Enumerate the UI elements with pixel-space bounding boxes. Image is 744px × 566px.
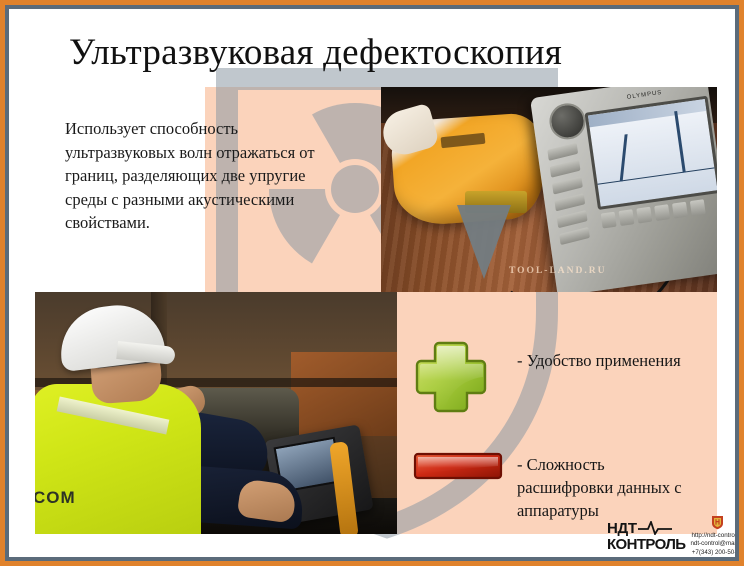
page-title: Ультразвуковая дефектоскопия xyxy=(69,31,709,75)
detector-screen xyxy=(585,96,717,210)
logo-wordmark: НДТ КОНТРОЛЬ xyxy=(607,521,685,552)
ascan-baseline xyxy=(597,167,714,185)
logo-kontrol-text: КОНТРОЛЬ xyxy=(607,537,685,552)
logo-email[interactable]: ndt-control@mail.ru xyxy=(690,540,735,549)
ascan-peak-2 xyxy=(674,111,686,173)
logo-website[interactable]: http://ndt-control.ru xyxy=(690,532,735,541)
workshop-panel xyxy=(291,352,397,436)
ultrasonic-probe-photo: OLYMPUS TOOL-LAND.RU xyxy=(381,87,717,292)
slide-frame: Ультразвуковая дефектоскопия Использует … xyxy=(0,0,744,566)
flaw-detector-device: OLYMPUS xyxy=(530,87,717,292)
detector-screen-topbar xyxy=(588,99,707,127)
detector-knob xyxy=(547,101,588,142)
logo-phone: +7(343) 200-50-22 xyxy=(690,549,735,557)
advantage-label: - Удобство применения xyxy=(517,349,732,372)
plus-icon xyxy=(413,339,489,415)
slide-canvas: Ультразвуковая дефектоскопия Использует … xyxy=(9,9,735,557)
disadvantage-label: - Сложность расшифровки данных с аппарат… xyxy=(517,453,697,522)
ascan-peak-1 xyxy=(620,134,628,182)
logo-top-row: НДТ xyxy=(607,521,685,536)
logo-contact-block: http://ndt-control.ru ndt-control@mail.r… xyxy=(690,515,735,557)
detector-brand-label: OLYMPUS xyxy=(626,90,662,101)
waveform-icon xyxy=(638,521,672,535)
intro-paragraph: Использует способность ультразвуковых во… xyxy=(65,117,315,235)
shield-icon xyxy=(711,515,724,530)
contact-info: http://ndt-control.ru ndt-control@mail.r… xyxy=(690,532,735,557)
vest-branding-text: COM xyxy=(35,488,76,508)
photo-watermark-text: TOOL-LAND.RU xyxy=(509,266,606,276)
technician-inspection-photo: COM xyxy=(35,292,397,534)
company-logo[interactable]: НДТ КОНТРОЛЬ xyxy=(607,513,729,557)
minus-icon xyxy=(413,452,503,480)
slide-inner-border: Ультразвуковая дефектоскопия Использует … xyxy=(5,5,739,561)
logo-ndt-text: НДТ xyxy=(607,521,637,536)
